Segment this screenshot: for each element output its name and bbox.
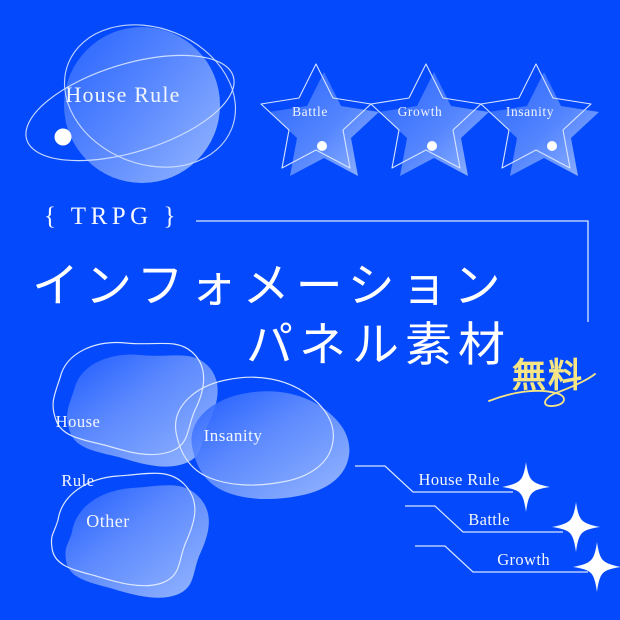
star-group-insanity[interactable] [481, 64, 599, 176]
free-badge: 無料 [512, 348, 584, 397]
blob-label-house-rule: House Rule [22, 372, 134, 530]
star-dot-icon [547, 141, 557, 151]
blob-label-line-2: Rule [22, 471, 134, 491]
sparkle-icon [573, 542, 620, 592]
blob-label-other: Other [52, 511, 164, 533]
blob-label-insanity: Insanity [166, 426, 300, 446]
star-dot-icon [427, 141, 437, 151]
star-group-battle[interactable] [261, 64, 379, 176]
star-label-growth: Growth [368, 104, 472, 120]
headline-eyebrow: { TRPG } [44, 203, 180, 231]
blob-label-line-1: House [22, 412, 134, 432]
poster-canvas: House Rule Battle Growth Insanity { TRPG… [0, 0, 620, 620]
star-label-battle: Battle [258, 104, 362, 120]
list-label-battle: Battle [370, 510, 510, 530]
sparkle-icon [502, 462, 550, 512]
orbit-ring-outer [14, 34, 246, 181]
headline-line-2: パネル素材 [246, 306, 511, 375]
orbit-dot-icon [55, 129, 72, 146]
sparkle-icon [552, 502, 600, 552]
list-label-growth: Growth [410, 550, 550, 570]
star-fill [269, 72, 379, 176]
star-group-growth[interactable] [371, 64, 489, 176]
star-label-insanity: Insanity [478, 104, 582, 120]
star-dot-icon [317, 141, 327, 151]
planet-label: House Rule [0, 82, 246, 108]
star-fill [379, 72, 489, 176]
list-label-house-rule: House Rule [330, 470, 500, 490]
star-fill [489, 72, 599, 176]
